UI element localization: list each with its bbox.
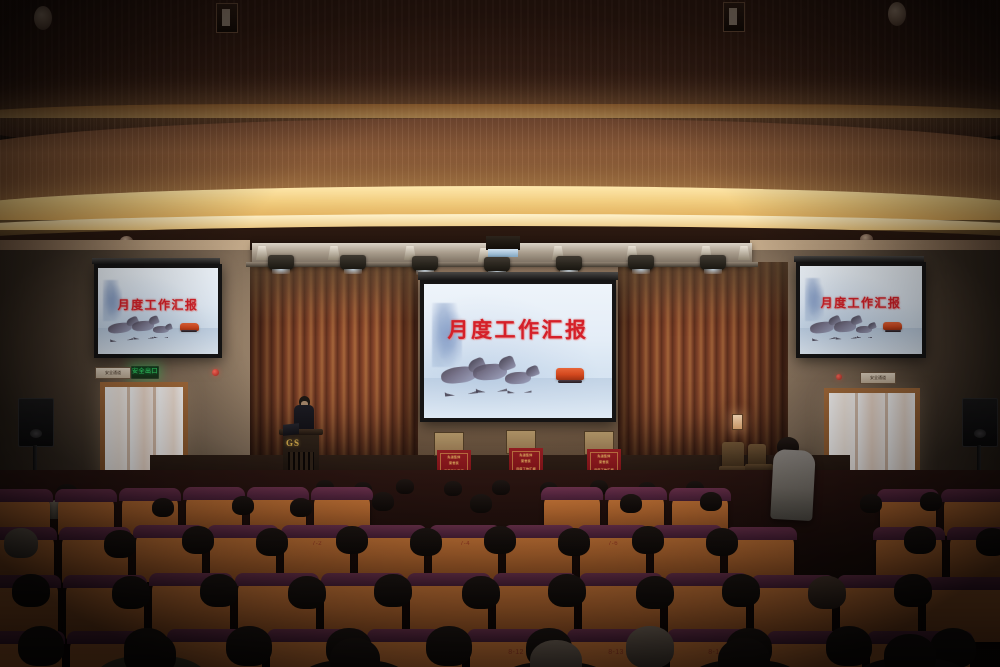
pennant-line2: 荣誉奖 [437,461,471,465]
audience-head [826,626,872,666]
main-projection-screen: 月度工作汇报 [420,280,616,422]
audience-head [808,576,846,609]
audience-head [4,528,38,558]
audience-head [920,492,942,511]
ceiling-projector [486,236,520,250]
audience-head [124,632,176,667]
pennant-line2: 荣誉奖 [587,460,621,464]
audience-head [976,528,1000,556]
stage-spotlight-icon [628,255,654,270]
stage-chair[interactable] [722,442,744,468]
stage-spotlight-icon [412,256,438,271]
audience-head [410,528,442,556]
audience-head [444,481,462,496]
exit-sign-left-text: 安全出口 [132,367,158,377]
stage-spotlight-icon [556,256,582,271]
podium-logo-text: GS [286,438,316,448]
audience-seating-area: 7-2 7-4 7-6 [0,470,1000,667]
truck-illustration [883,322,903,330]
audience-head [182,526,214,554]
wall-sign-left: 安全通道 [95,367,131,379]
audience-head [470,494,492,513]
pennant-line1: 先进集体 [437,455,471,459]
horse-illustration [131,321,153,332]
audience-head [884,634,936,667]
pennant-line1: 先进集体 [587,454,621,458]
truck-illustration [556,368,584,380]
exit-sign-left: 安全出口 [131,366,159,379]
truck-illustration [180,323,199,331]
audience-head [558,528,590,556]
audience-head [548,574,586,607]
right-projection-screen: 月度工作汇报 [796,262,926,358]
audience-head [112,576,150,609]
right-slide: 月度工作汇报 [800,266,922,354]
stage-spotlight-icon [484,257,510,272]
audience-head [904,526,936,554]
wall-sign-right-text: 安全通道 [861,373,895,382]
audience-head [290,498,312,517]
audience-head [288,576,326,609]
right-slide-title: 月度工作汇报 [800,294,922,311]
audience-head [374,574,412,607]
horse-illustration [856,326,872,333]
audience-head [226,626,272,666]
standing-attendee-body [770,449,816,521]
pennant-line1: 先进集体 [509,453,543,457]
audience-head [462,576,500,609]
wall-sign-right: 安全通道 [860,372,896,384]
podium-laptop [283,423,299,436]
audience-head [894,574,932,607]
ceiling-speaker-icon [34,6,52,30]
horse-illustration [809,321,834,334]
pa-speaker-left [18,398,54,447]
ceiling-cove-light-upper [0,104,1000,118]
left-slide-title: 月度工作汇报 [98,296,218,313]
ceiling-vent-icon [216,3,238,33]
audience-head [492,480,510,495]
horse-illustration [153,326,169,333]
left-projection-screen: 月度工作汇报 [94,264,222,358]
main-slide-title: 月度工作汇报 [424,314,612,344]
audience-head [256,528,288,556]
audience-head [232,496,254,515]
stage-spotlight-icon [700,255,726,270]
horse-illustration [472,364,507,382]
audience-head [484,526,516,554]
left-slide: 月度工作汇报 [98,268,218,354]
ceiling-speaker-icon [888,2,906,26]
audience-head [636,576,674,609]
audience-head [18,626,64,666]
audience-head [12,574,50,607]
emergency-indicator-left [212,369,219,376]
audience-head [104,530,136,558]
auditorium-photo: 月度工作汇报 月度工作汇报 月度工作汇报 [0,0,1000,667]
main-slide: 月度工作汇报 [424,284,612,418]
audience-head [860,494,882,513]
audience-head [722,574,760,607]
audience-head [336,526,368,554]
stage-spotlight-icon [268,255,294,270]
audience-head [396,479,414,494]
audience-head [426,626,472,666]
audience-head [620,494,642,513]
pennant-line2: 荣誉奖 [509,459,543,463]
audience-head [152,498,174,517]
audience-head [706,528,738,556]
main-screen-roller [418,272,618,280]
wall-sign-left-text: 安全通道 [96,368,130,377]
pa-speaker-right [962,398,998,447]
wall-sconce [732,414,743,430]
audience-head [626,626,674,667]
stage-chair[interactable] [748,444,766,466]
stage-spotlight-icon [340,255,366,270]
audience-head [700,492,722,511]
audience-head [632,526,664,554]
horse-illustration [505,372,532,385]
audience-head [372,492,394,511]
audience-head [200,574,238,607]
horse-illustration [834,320,856,332]
emergency-indicator-right [836,374,842,380]
ceiling-vent-icon [723,2,745,32]
